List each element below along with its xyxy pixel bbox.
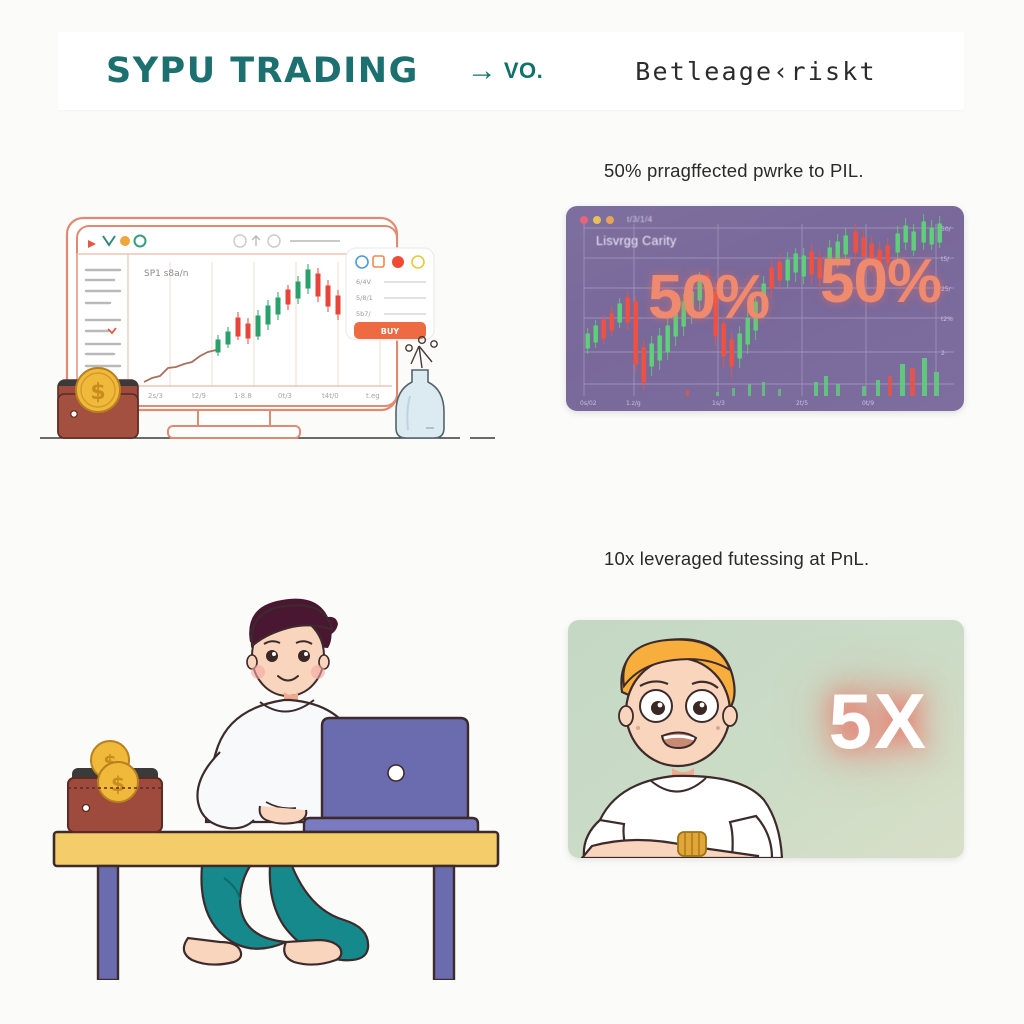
version-group: → VO. xyxy=(467,56,543,86)
person-svg: $ $ xyxy=(38,560,530,980)
svg-text:0t/9: 0t/9 xyxy=(862,400,874,407)
svg-text:50/: 50/ xyxy=(941,226,952,233)
leverage-candlestick-chart: t/3/1/4 Lisvrgg Carity xyxy=(566,206,964,411)
infographic-canvas: SYPU TRADING → VO. Betleage‹riskt xyxy=(0,0,1024,1024)
svg-text:t2%: t2% xyxy=(941,316,953,323)
svg-text:t5/: t5/ xyxy=(941,256,950,263)
svg-text:t2/9: t2/9 xyxy=(192,392,206,400)
bracelet xyxy=(678,832,706,856)
order-panel[interactable]: 6/4V 5/8/1 5b7/ BUY xyxy=(346,248,434,340)
x-axis-ticks: 0s/02 1.z/g 1s/3 2t/5 0t/9 xyxy=(580,400,874,407)
person-legs xyxy=(184,866,368,965)
overlay-percent-right: 50% xyxy=(820,246,941,317)
dollar-icon: $ xyxy=(90,380,105,405)
vase-with-flowers xyxy=(396,337,444,438)
monitor-svg: SP1 s8a/n 2s/3 t2/9 1·8.8 0t/3 t4t/0 t.e… xyxy=(40,190,530,455)
overlay-percent-left: 50% xyxy=(648,262,769,333)
desktop-trading-illustration: SP1 s8a/n 2s/3 t2/9 1·8.8 0t/3 t4t/0 t.e… xyxy=(40,190,530,455)
y-axis-ticks: 50/ t5/ 25/ t2% 2· xyxy=(941,226,953,357)
order-row-label-0: 6/4V xyxy=(356,278,371,286)
svg-text:t4t/0: t4t/0 xyxy=(322,392,339,400)
monitor-chart-title: SP1 s8a/n xyxy=(144,269,188,279)
svg-text:2s/3: 2s/3 xyxy=(148,392,163,400)
version-label: VO. xyxy=(504,58,543,84)
person-head xyxy=(247,599,338,706)
wallet-coins-desk: $ $ xyxy=(68,741,162,832)
buy-button-label: BUY xyxy=(381,327,400,336)
leverage-chart-caption: 50% prragffected pwrke to PIL. xyxy=(604,160,984,182)
order-row-label-2: 5b7/ xyxy=(356,310,371,318)
dollar-icon-front: $ xyxy=(111,772,125,796)
svg-text:t.eg: t.eg xyxy=(366,392,380,400)
leverage-multiplier-label: 5X xyxy=(829,676,928,767)
svg-text:1.z/g: 1.z/g xyxy=(626,400,641,407)
svg-text:2·: 2· xyxy=(941,350,947,357)
order-row-label-1: 5/8/1 xyxy=(356,294,373,302)
arrow-right-icon: → xyxy=(467,56,497,86)
svg-text:2t/5: 2t/5 xyxy=(796,400,808,407)
header-bar: SYPU TRADING → VO. Betleage‹riskt xyxy=(58,32,964,110)
svg-text:1s/3: 1s/3 xyxy=(712,400,725,407)
person-laptop-illustration: $ $ xyxy=(38,560,530,980)
svg-text:0s/02: 0s/02 xyxy=(580,400,597,407)
svg-text:0t/3: 0t/3 xyxy=(278,392,292,400)
tagline: Betleage‹riskt xyxy=(635,57,877,86)
worried-trader-caption: 10x leveraged futessing at PnL. xyxy=(604,548,984,570)
brand-logo: SYPU TRADING xyxy=(106,51,419,91)
worried-trader-card: 5X xyxy=(568,620,964,858)
svg-text:25/: 25/ xyxy=(941,286,952,293)
laptop xyxy=(304,718,478,832)
svg-text:1·8.8: 1·8.8 xyxy=(234,392,252,400)
